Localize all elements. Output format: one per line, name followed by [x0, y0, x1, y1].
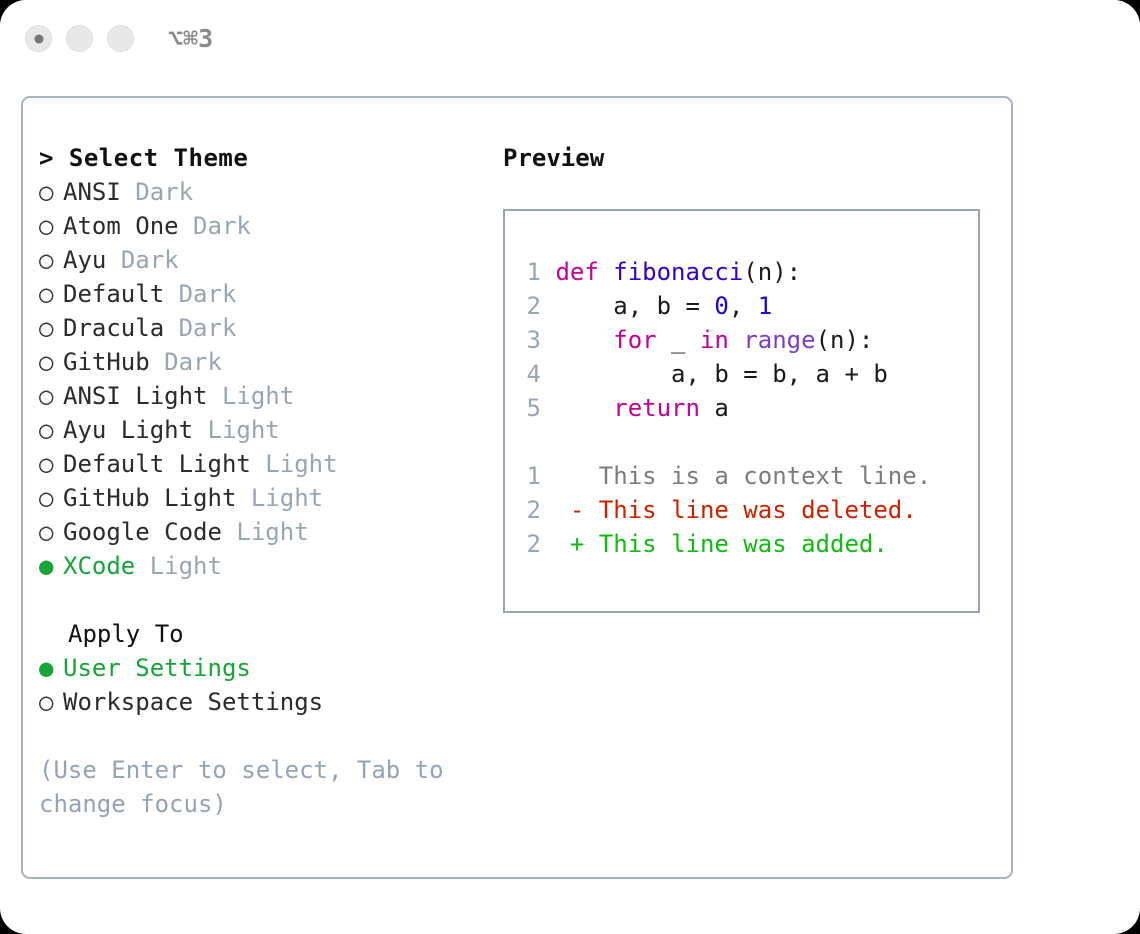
- radio-unselected-icon: ○: [39, 481, 63, 515]
- code-token-plain: (n):: [743, 258, 801, 286]
- terminal-window: ⌥⌘3 > Select Theme ○ANSI Dark○Atom One D…: [0, 0, 1140, 934]
- theme-list-column: > Select Theme ○ANSI Dark○Atom One Dark○…: [39, 141, 489, 821]
- theme-option-label: Atom One: [63, 212, 179, 240]
- window-dot-2[interactable]: [66, 25, 93, 52]
- diff-line-number: 1: [517, 459, 541, 493]
- theme-option-dracula[interactable]: ○Dracula Dark: [39, 311, 489, 345]
- radio-unselected-icon: ○: [39, 175, 63, 209]
- radio-unselected-icon: ○: [39, 379, 63, 413]
- radio-unselected-icon: ○: [39, 413, 63, 447]
- diff-marker-add: +: [570, 530, 584, 558]
- apply-to-header: Apply To: [39, 617, 489, 651]
- apply-to-list: ●User Settings○Workspace Settings: [39, 651, 489, 719]
- theme-variant-badge: Dark: [164, 348, 222, 376]
- radio-unselected-icon: ○: [39, 209, 63, 243]
- keyboard-hint-text: (Use Enter to select, Tab to change focu…: [39, 753, 449, 821]
- diff-line-number: 2: [517, 527, 541, 561]
- code-line: 5 return a: [517, 391, 978, 425]
- diff-marker-ctx: [570, 462, 584, 490]
- theme-option-label: XCode: [63, 552, 135, 580]
- theme-option-label: GitHub Light: [63, 484, 236, 512]
- apply-to-option-workspace-settings[interactable]: ○Workspace Settings: [39, 685, 489, 719]
- theme-variant-badge: Dark: [179, 314, 237, 342]
- code-token-plain: ,: [729, 292, 758, 320]
- theme-option-ayu-light[interactable]: ○Ayu Light Light: [39, 413, 489, 447]
- code-token-kw: def: [555, 258, 613, 286]
- theme-option-label: Ayu: [63, 246, 106, 274]
- diff-marker-del: -: [570, 496, 584, 524]
- code-line-number: 2: [517, 289, 541, 323]
- theme-variant-badge: Light: [150, 552, 222, 580]
- theme-variant-badge: Light: [236, 518, 308, 546]
- theme-variant-badge: Light: [208, 416, 280, 444]
- code-line: 1 def fibonacci(n):: [517, 255, 978, 289]
- window-dot-active[interactable]: [25, 25, 52, 52]
- code-line: 3 for _ in range(n):: [517, 323, 978, 357]
- theme-list: ○ANSI Dark○Atom One Dark○Ayu Dark○Defaul…: [39, 175, 489, 583]
- theme-option-xcode[interactable]: ●XCode Light: [39, 549, 489, 583]
- code-token-plain: a, b =: [555, 292, 714, 320]
- theme-variant-badge: Dark: [179, 280, 237, 308]
- code-token-kw: in: [700, 326, 729, 354]
- code-token-plain: _: [657, 326, 700, 354]
- code-token-plain: [555, 394, 613, 422]
- code-token-call: range: [743, 326, 815, 354]
- diff-line-text: This line was added.: [584, 530, 887, 558]
- preview-header: Preview: [503, 141, 993, 175]
- keyboard-shortcut-label: ⌥⌘3: [168, 24, 213, 53]
- code-token-fn: fibonacci: [613, 258, 743, 286]
- code-preview-box: 1 def fibonacci(n):2 a, b = 0, 13 for _ …: [503, 209, 980, 613]
- theme-option-label: GitHub: [63, 348, 150, 376]
- radio-unselected-icon: ○: [39, 311, 63, 345]
- theme-option-label: ANSI: [63, 178, 121, 206]
- code-line: 4 a, b = b, a + b: [517, 357, 978, 391]
- code-token-plain: [729, 326, 743, 354]
- radio-selected-icon: ●: [39, 651, 63, 685]
- theme-option-label: Default: [63, 280, 164, 308]
- theme-option-label: Dracula: [63, 314, 164, 342]
- code-token-num: 0: [714, 292, 728, 320]
- radio-unselected-icon: ○: [39, 447, 63, 481]
- code-token-kw: for: [613, 326, 656, 354]
- theme-option-atom-one[interactable]: ○Atom One Dark: [39, 209, 489, 243]
- theme-option-ansi[interactable]: ○ANSI Dark: [39, 175, 489, 209]
- code-token-plain: [555, 326, 613, 354]
- theme-option-github-light[interactable]: ○GitHub Light Light: [39, 481, 489, 515]
- radio-selected-icon: ●: [39, 549, 63, 583]
- apply-to-option-user-settings[interactable]: ●User Settings: [39, 651, 489, 685]
- code-token-plain: a: [700, 394, 729, 422]
- radio-unselected-icon: ○: [39, 345, 63, 379]
- window-dot-3[interactable]: [107, 25, 134, 52]
- theme-variant-badge: Light: [251, 484, 323, 512]
- code-diff-spacer: [517, 425, 978, 459]
- select-theme-header: > Select Theme: [39, 141, 489, 175]
- apply-to-option-label: Workspace Settings: [63, 688, 323, 716]
- theme-option-default[interactable]: ○Default Dark: [39, 277, 489, 311]
- theme-selector-panel: > Select Theme ○ANSI Dark○Atom One Dark○…: [21, 96, 1013, 879]
- diff-line-add: 2 + This line was added.: [517, 527, 978, 561]
- window-dot-active-inner: [34, 34, 43, 43]
- diff-line-text: This line was deleted.: [584, 496, 916, 524]
- radio-unselected-icon: ○: [39, 515, 63, 549]
- theme-variant-badge: Dark: [121, 246, 179, 274]
- theme-option-ansi-light[interactable]: ○ANSI Light Light: [39, 379, 489, 413]
- diff-line-del: 2 - This line was deleted.: [517, 493, 978, 527]
- code-token-kw: return: [613, 394, 700, 422]
- theme-option-label: ANSI Light: [63, 382, 208, 410]
- code-token-plain: (n):: [816, 326, 874, 354]
- theme-option-google-code[interactable]: ○Google Code Light: [39, 515, 489, 549]
- code-line-number: 1: [517, 255, 541, 289]
- radio-unselected-icon: ○: [39, 243, 63, 277]
- theme-option-github[interactable]: ○GitHub Dark: [39, 345, 489, 379]
- code-token-num: 1: [758, 292, 772, 320]
- theme-variant-badge: Dark: [193, 212, 251, 240]
- diff-line-number: 2: [517, 493, 541, 527]
- window-titlebar: ⌥⌘3: [0, 0, 1140, 78]
- theme-option-label: Default Light: [63, 450, 251, 478]
- diff-sample: 1 This is a context line.2 - This line w…: [517, 459, 978, 561]
- code-sample: 1 def fibonacci(n):2 a, b = 0, 13 for _ …: [517, 255, 978, 425]
- preview-column: Preview 1 def fibonacci(n):2 a, b = 0, 1…: [503, 141, 993, 613]
- code-line-number: 3: [517, 323, 541, 357]
- theme-option-label: Google Code: [63, 518, 222, 546]
- code-token-plain: a, b = b, a + b: [555, 360, 887, 388]
- code-line-number: 4: [517, 357, 541, 391]
- theme-option-label: Ayu Light: [63, 416, 193, 444]
- theme-option-default-light[interactable]: ○Default Light Light: [39, 447, 489, 481]
- diff-line-text: This is a context line.: [584, 462, 931, 490]
- code-line-number: 5: [517, 391, 541, 425]
- theme-variant-badge: Light: [222, 382, 294, 410]
- diff-line-ctx: 1 This is a context line.: [517, 459, 978, 493]
- theme-variant-badge: Dark: [135, 178, 193, 206]
- radio-unselected-icon: ○: [39, 685, 63, 719]
- theme-option-ayu[interactable]: ○Ayu Dark: [39, 243, 489, 277]
- radio-unselected-icon: ○: [39, 277, 63, 311]
- theme-variant-badge: Light: [265, 450, 337, 478]
- apply-to-option-label: User Settings: [63, 654, 251, 682]
- code-line: 2 a, b = 0, 1: [517, 289, 978, 323]
